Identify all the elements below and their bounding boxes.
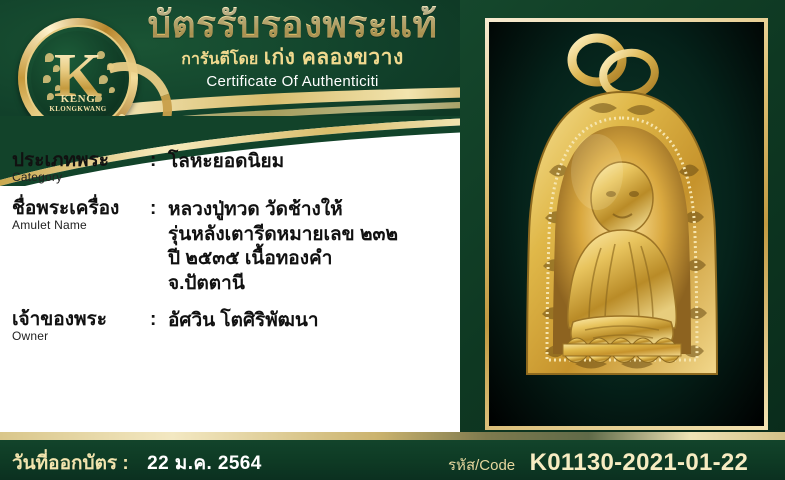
certificate-footer: วันที่ออกบัตร : 22 ม.ค. 2564 รหัส/Code K… — [0, 440, 785, 480]
field-amulet-name-label-th: ชื่อพระเครื่อง — [12, 198, 150, 220]
footer-gold-strip — [0, 432, 785, 440]
field-amulet-name-label-en: Amulet Name — [12, 219, 150, 232]
amulet-photo-panel — [460, 0, 785, 440]
field-category-label-th: ประเภทพระ — [12, 150, 150, 172]
field-owner: เจ้าของพระ Owner : อัศวิน โตศิริพัฒนา — [0, 309, 470, 343]
field-amulet-name-colon: : — [150, 198, 162, 220]
issue-date-group: วันที่ออกบัตร : 22 ม.ค. 2564 — [12, 448, 262, 478]
certificate-code-value: K01130-2021-01-22 — [530, 449, 749, 476]
field-owner-label-en: Owner — [12, 330, 150, 343]
issue-date-label: วันที่ออกบัตร : — [12, 453, 129, 474]
header-title-block: บัตรรับรองพระแท้ การันตีโดย เก่ง คลองขวา… — [120, 6, 465, 90]
field-owner-value: อัศวิน โตศิริพัฒนา — [162, 309, 470, 334]
guarantee-line: การันตีโดย เก่ง คลองขวาง — [120, 45, 465, 70]
amulet-name-line: จ.ปัตตานี — [168, 272, 470, 297]
guarantee-prefix: การันตีโดย — [181, 51, 258, 68]
issue-date-value: 22 ม.ค. 2564 — [147, 453, 262, 474]
field-category-label-en: Category — [12, 171, 150, 184]
guarantee-name: เก่ง คลองขวาง — [264, 46, 404, 69]
field-owner-label: เจ้าของพระ Owner — [0, 309, 150, 343]
field-owner-label-th: เจ้าของพระ — [12, 309, 150, 331]
page-subtitle-en: Certificate Of Authenticiti — [120, 73, 465, 90]
field-category-label: ประเภทพระ Category — [0, 150, 150, 184]
certificate-code-group: รหัส/Code K01130-2021-01-22 — [448, 449, 748, 477]
field-amulet-name: ชื่อพระเครื่อง Amulet Name : หลวงปู่ทวด … — [0, 198, 470, 297]
amulet-photo-image — [489, 22, 756, 418]
certificate-card: บัตรรับรองพระแท้ การันตีโดย เก่ง คลองขวา… — [0, 0, 785, 480]
field-amulet-name-value: หลวงปู่ทวด วัดช้างให้ รุ่นหลังเตารีดหมาย… — [162, 198, 470, 297]
field-category: ประเภทพระ Category : โลหะยอดนิยม — [0, 150, 470, 184]
fields-list: ประเภทพระ Category : โลหะยอดนิยม ชื่อพระ… — [0, 150, 470, 345]
page-title: บัตรรับรองพระแท้ — [120, 6, 465, 44]
amulet-name-line: ปี ๒๕๓๕ เนื้อทองคำ — [168, 247, 470, 272]
field-category-value: โลหะยอดนิยม — [162, 150, 470, 175]
amulet-name-line: หลวงปู่ทวด วัดช้างให้ — [168, 198, 470, 223]
field-owner-colon: : — [150, 309, 162, 331]
field-category-colon: : — [150, 150, 162, 172]
amulet-name-line: รุ่นหลังเตารีดหมายเลข ๒๓๒ — [168, 223, 470, 248]
amulet-photo-frame — [485, 18, 768, 430]
field-amulet-name-label: ชื่อพระเครื่อง Amulet Name — [0, 198, 150, 232]
certificate-code-label: รหัส/Code — [448, 457, 515, 474]
